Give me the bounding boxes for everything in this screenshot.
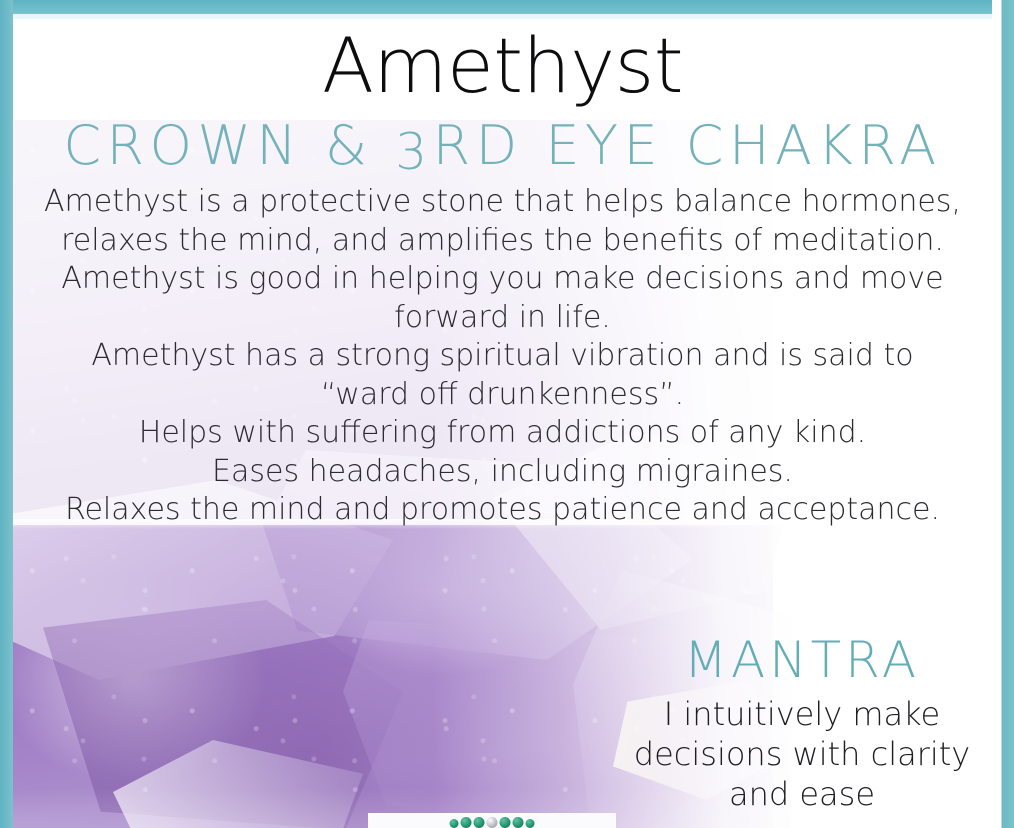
frame-inner-hairline	[13, 14, 992, 19]
logo-bead	[500, 817, 511, 828]
description-block: Amethyst is a protective stone that help…	[13, 183, 992, 530]
mantra-text: I intuitively make decisions with clarit…	[612, 694, 992, 814]
chakra-subtitle-digit: 3	[395, 123, 432, 181]
mantra-line: decisions with clarity	[612, 734, 992, 774]
logo-bead	[450, 819, 459, 828]
description-line: Relaxes the mind and promotes patience a…	[13, 491, 992, 530]
frame-border-left	[0, 0, 13, 828]
amethyst-info-card: Amethyst CROWN & 3RD EYE CHAKRA Amethyst…	[0, 0, 1014, 828]
logo-bead	[526, 819, 535, 828]
mantra-line: and ease	[612, 774, 992, 814]
frame-border-right	[992, 0, 1014, 828]
chakra-subtitle-suffix: RD EYE CHAKRA	[433, 114, 942, 177]
logo-bead	[513, 817, 524, 828]
description-line: Amethyst is a protective stone that help…	[13, 183, 992, 222]
mantra-block: MANTRA I intuitively make decisions with…	[612, 632, 992, 814]
description-line: “ward off drunkenness”.	[13, 376, 992, 415]
logo-bead	[474, 817, 485, 828]
page-title: Amethyst	[13, 23, 992, 109]
chakra-subtitle: CROWN & 3RD EYE CHAKRA	[13, 115, 992, 178]
logo-bead-pearl	[487, 817, 498, 828]
description-line: Amethyst has a strong spiritual vibratio…	[13, 337, 992, 376]
description-line: relaxes the mind, and amplifies the bene…	[13, 222, 992, 261]
card-content: Amethyst CROWN & 3RD EYE CHAKRA Amethyst…	[13, 19, 992, 828]
description-line: Helps with suffering from addictions of …	[13, 414, 992, 453]
description-line: Amethyst is good in helping you make dec…	[13, 260, 992, 299]
mantra-heading: MANTRA	[612, 632, 992, 688]
beaded-bracelet-logo-icon	[450, 817, 535, 828]
frame-border-top	[0, 0, 1014, 14]
mantra-line: I intuitively make	[612, 694, 992, 734]
chakra-subtitle-prefix: CROWN &	[63, 114, 395, 177]
description-line: forward in life.	[13, 299, 992, 338]
brand-logo-badge	[368, 813, 616, 828]
description-line: Eases headaches, including migraines.	[13, 453, 992, 492]
logo-bead	[461, 817, 472, 828]
